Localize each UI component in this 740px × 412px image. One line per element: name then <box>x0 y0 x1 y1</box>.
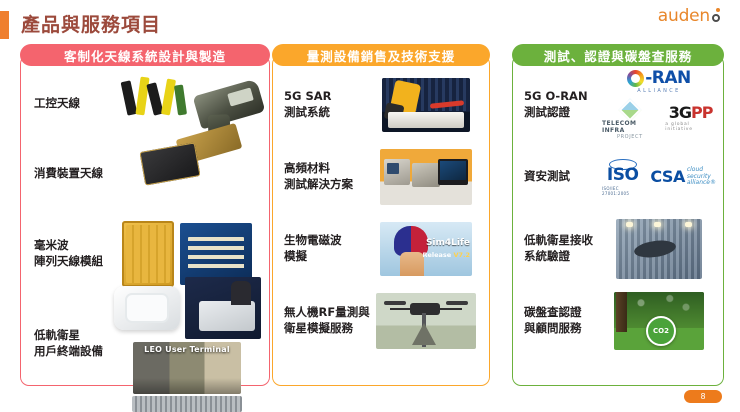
iso-wordmark: ISO <box>607 167 639 184</box>
card-3-header: 測試、認證與碳盤查服務 <box>512 44 724 66</box>
chamber-antenna-dish <box>633 238 677 260</box>
cards-container: 客制化天線系統設計與製造 工控天線 消費裝置天線 <box>0 44 740 394</box>
card-measurement-equipment: 量測設備銷售及技術支援 5G SAR 測試系統 高頻材料 測試解決方案 <box>272 44 490 386</box>
logo-wordmark: auden <box>658 8 710 25</box>
page-number-badge: 8 <box>684 390 722 403</box>
page-title-row: 產品與服務項目 <box>0 10 161 40</box>
row-drone-rf: 無人機RF量測與 衛星模擬服務 <box>272 285 490 357</box>
card-2-header: 量測設備銷售及技術支援 <box>272 44 490 66</box>
oran-subtitle: ALLIANCE <box>637 89 680 94</box>
oran-ring-icon <box>627 70 644 87</box>
row-security-test: 資安測試 ISO ISO/IEC 27001:2005 CSA cloud se… <box>512 141 724 213</box>
leo-terminal-device <box>114 286 180 330</box>
csa-wordmark: CSA <box>650 167 684 186</box>
anechoic-chamber-photo <box>602 219 716 279</box>
card-1-content: 工控天線 消費裝置天線 <box>20 55 270 386</box>
instrument-left <box>384 159 410 185</box>
logo-mark-icon <box>711 8 724 25</box>
csa-logo: CSA cloud security alliance® <box>650 167 716 188</box>
tip-diamond-icon <box>619 99 642 122</box>
row-label: 生物電磁波 模擬 <box>284 233 370 264</box>
carbon-footprint-photo: CO2 <box>602 292 716 350</box>
human-body-model <box>400 252 424 276</box>
row-carbon-footprint: 碳盤查認證 與顧問服務 CO2 <box>512 285 724 357</box>
sar-robot-photo <box>370 78 482 132</box>
card-3-content: 5G O-RAN 測試認證 -RAN ALLIANCE <box>512 55 724 386</box>
row-label: 無人機RF量測與 衛星模擬服務 <box>284 305 370 336</box>
chamber-lamp-3 <box>685 222 692 227</box>
card-1-rows: 工控天線 消費裝置天線 <box>20 69 270 386</box>
iso-standard-code: ISO/IEC 27001:2005 <box>602 186 643 196</box>
sim4life-release: Release V7.2 <box>422 251 470 259</box>
laptop-shape <box>438 159 468 185</box>
industrial-antenna-photo <box>116 73 266 191</box>
drone-image <box>376 293 476 349</box>
card-2-content: 5G SAR 測試系統 高頻材料 測試解決方案 <box>272 55 490 386</box>
leo-flat-panel-demo <box>185 277 261 339</box>
chamber-lamp-2 <box>654 222 661 227</box>
slide: 產品與服務項目 auden 客制化天線系統設計與製造 工控天線 消費裝置天線 <box>0 0 740 409</box>
row-label: 5G O-RAN 測試認證 <box>524 89 602 120</box>
logo-ring-shape <box>712 14 720 22</box>
leo-field-photo: LEO User Terminal <box>133 342 241 394</box>
row-label: 毫米波 陣列天線模組 <box>20 238 104 269</box>
card-1-header: 客制化天線系統設計與製造 <box>20 44 270 66</box>
page-title: 產品與服務項目 <box>21 16 161 35</box>
row-label: 低軌衛星 用戶終端設備 <box>20 328 104 359</box>
row-leo-terminal: 低軌衛星 用戶終端設備 LEO User Terminal <box>20 299 270 389</box>
3gpp-subtitle: a global initiative <box>665 122 716 132</box>
row-5g-sar: 5G SAR 測試系統 <box>272 69 490 141</box>
tree-trunk-shape <box>616 292 627 332</box>
security-logos: ISO ISO/IEC 27001:2005 CSA cloud securit… <box>602 159 716 196</box>
material-test-bench-photo <box>370 149 482 205</box>
barcode-scanner-photo <box>193 79 266 130</box>
title-accent-bar <box>0 11 9 39</box>
iso-logo: ISO ISO/IEC 27001:2005 <box>602 159 643 196</box>
row-label: 碳盤查認證 與顧問服務 <box>524 305 602 336</box>
scanner-screen <box>227 87 254 106</box>
csa-subtitle: cloud security alliance® <box>687 167 716 188</box>
oran-alliance-logo: -RAN ALLIANCE <box>627 70 691 94</box>
row-hf-material: 高頻材料 測試解決方案 <box>272 141 490 213</box>
drone-tripod <box>412 323 436 345</box>
sim4life-photo: Sim4Life Release V7.2 <box>370 222 482 276</box>
row-label: 5G SAR 測試系統 <box>284 89 370 120</box>
chamber-lamp-1 <box>626 222 633 227</box>
sar-red-bar <box>430 100 464 109</box>
leo-user-terminal-photo: LEO User Terminal <box>104 277 270 412</box>
row-label: 低軌衛星接收 系統驗證 <box>524 233 602 264</box>
3gpp-wordmark: 3GPP <box>669 105 713 121</box>
forest-image: CO2 <box>614 292 704 350</box>
row-label: 工控天線 <box>20 96 104 112</box>
tip-line1: TELECOM INFRA <box>602 120 658 134</box>
drone-rotor-right <box>446 301 468 305</box>
row-label: 高頻材料 測試解決方案 <box>284 161 370 192</box>
sim4life-image: Sim4Life Release V7.2 <box>380 222 472 276</box>
leo-antenna-strip <box>132 396 242 412</box>
row-label: 資安測試 <box>524 169 602 185</box>
material-test-image <box>380 149 472 205</box>
co2-badge-icon: CO2 <box>646 316 676 346</box>
3gpp-logo: 3GPP a global initiative <box>665 105 716 132</box>
antenna-pcb-black <box>139 142 200 185</box>
instrument-middle <box>412 163 440 187</box>
leo-caption: LEO User Terminal <box>133 345 241 354</box>
logo-dot-shape <box>716 8 720 12</box>
row-label: 消費裝置天線 <box>20 166 104 182</box>
card-test-certification: 測試、認證與碳盤查服務 5G O-RAN 測試認證 -RAN ALLIANCE <box>512 44 724 386</box>
row-leo-receiver-validation: 低軌衛星接收 系統驗證 <box>512 213 724 285</box>
sar-test-image <box>382 78 470 132</box>
certification-logos: -RAN ALLIANCE TELECOM INFRA PROJECT <box>602 70 716 140</box>
drone-rotor-left <box>384 301 406 305</box>
sar-phantom-table <box>388 112 464 128</box>
oran-wordmark: -RAN <box>627 70 691 87</box>
row-bio-em-simulation: 生物電磁波 模擬 Sim4Life Release V7.2 <box>272 213 490 285</box>
drone-arm-right <box>438 308 462 310</box>
sim4life-title: Sim4Life <box>426 238 470 248</box>
card-custom-antenna: 客制化天線系統設計與製造 工控天線 消費裝置天線 <box>20 44 270 386</box>
telecom-infra-project-logo: TELECOM INFRA PROJECT <box>602 102 658 140</box>
oran-name: -RAN <box>645 70 691 87</box>
tip-line2: PROJECT <box>617 134 643 140</box>
auden-logo: auden <box>658 8 724 25</box>
row-oran-certification: 5G O-RAN 測試認證 -RAN ALLIANCE <box>512 69 724 141</box>
chamber-image <box>616 219 702 279</box>
drone-rf-measurement-photo <box>370 293 482 349</box>
